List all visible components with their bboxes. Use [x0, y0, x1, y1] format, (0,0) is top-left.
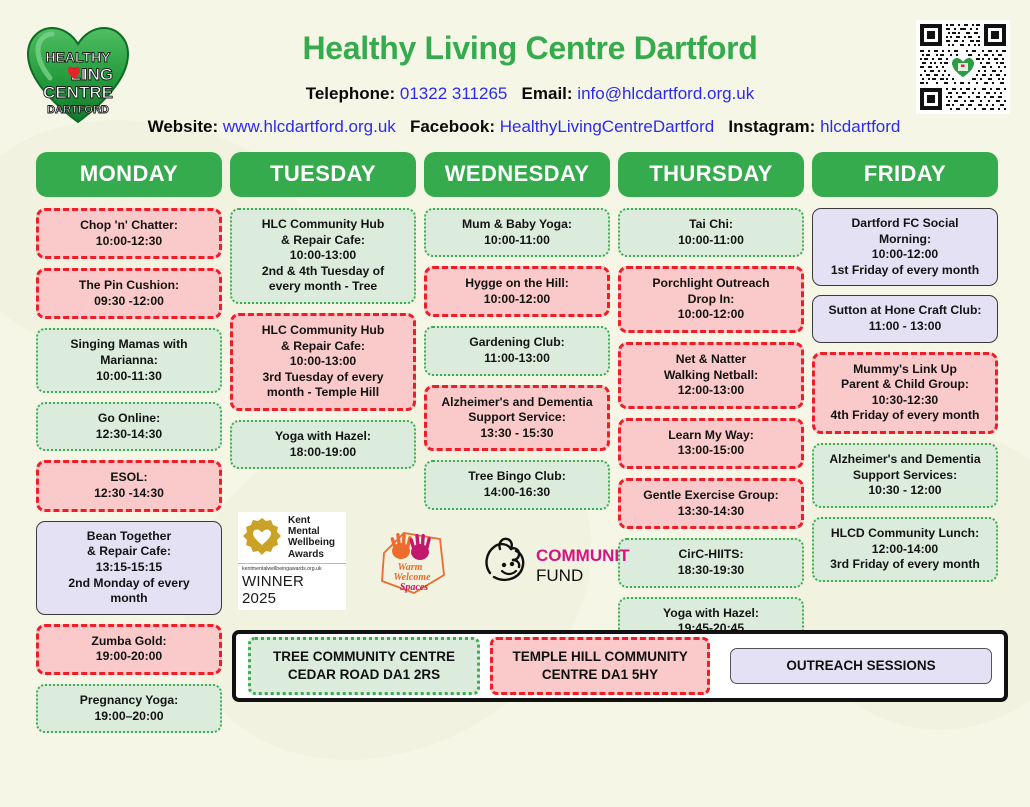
kent-awards-url: kentmentalwellbeingawards.org.uk: [238, 563, 346, 573]
session-line: Parent & Child Group:: [821, 377, 989, 393]
session-card[interactable]: Tai Chi: 10:00-11:00: [618, 208, 804, 257]
session-line: 12:00-14:00: [820, 542, 990, 558]
session-card[interactable]: Mum & Baby Yoga: 10:00-11:00: [424, 208, 610, 257]
qr-code-icon[interactable]: [916, 20, 1010, 114]
session-line: Hygge on the Hill:: [433, 276, 601, 292]
session-line: 1st Friday of every month: [819, 263, 991, 279]
session-card[interactable]: CirC-HIITS: 18:30-19:30: [618, 538, 804, 587]
session-line: 10:00-11:00: [432, 233, 602, 249]
day-header-tuesday: TUESDAY: [230, 152, 416, 197]
session-line: 3rd Friday of every month: [820, 557, 990, 573]
national-lottery-community-fund-logo: COMMUNITY FUND: [480, 533, 630, 589]
session-card[interactable]: Zumba Gold: 19:00-20:00: [36, 624, 222, 675]
legend-line: TREE COMMUNITY CENTRE: [273, 649, 455, 664]
session-line: 09:30 -12:00: [45, 294, 213, 310]
session-card[interactable]: Chop 'n' Chatter: 10:00-12:30: [36, 208, 222, 259]
session-line: Chop 'n' Chatter:: [45, 218, 213, 234]
session-card[interactable]: Sutton at Hone Craft Club: 11:00 - 13:00: [812, 295, 998, 342]
session-card[interactable]: HLCD Community Lunch: 12:00-14:00 3rd Fr…: [812, 517, 998, 582]
session-line: Tai Chi:: [626, 217, 796, 233]
svg-text:DARTFORD: DARTFORD: [47, 104, 109, 116]
contact-phone-email: Telephone: 01322 311265 Email: info@hlcd…: [0, 84, 1030, 104]
legend-line: CEDAR ROAD DA1 2RS: [288, 667, 440, 682]
email-value[interactable]: info@hlcdartford.org.uk: [577, 84, 754, 103]
session-card[interactable]: Singing Mamas with Marianna: 10:00-11:30: [36, 328, 222, 393]
telephone-label: Telephone:: [306, 84, 395, 103]
instagram-label: Instagram:: [728, 117, 815, 136]
session-line: Yoga with Hazel:: [626, 606, 796, 622]
session-card[interactable]: Pregnancy Yoga: 19:00–20:00: [36, 684, 222, 733]
session-card[interactable]: Alzheimer's and Dementia Support Service…: [424, 385, 610, 452]
venue-legend: TREE COMMUNITY CENTRE CEDAR ROAD DA1 2RS…: [232, 630, 1008, 702]
session-card[interactable]: Gentle Exercise Group: 13:30-14:30: [618, 478, 804, 529]
session-card[interactable]: Alzheimer's and Dementia Support Service…: [812, 443, 998, 508]
session-line: 4th Friday of every month: [821, 408, 989, 424]
day-header-monday: MONDAY: [36, 152, 222, 197]
session-line: Pregnancy Yoga:: [44, 693, 214, 709]
telephone-value: 01322 311265: [400, 84, 507, 103]
session-line: 10:00-12:00: [819, 247, 991, 263]
kent-awards-words: Kent Mental Wellbeing Awards: [288, 515, 335, 560]
session-card[interactable]: Go Online: 12:30-14:30: [36, 402, 222, 451]
session-line: 10:00-12:00: [433, 292, 601, 308]
session-line: The Pin Cushion:: [45, 278, 213, 294]
session-line: 13:15-15:15: [43, 560, 215, 576]
kent-word-line: Kent: [288, 515, 335, 526]
contact-web-social: Website: www.hlcdartford.org.uk Facebook…: [0, 117, 1030, 137]
session-line: HLC Community Hub: [239, 323, 407, 339]
session-line: Support Service:: [433, 410, 601, 426]
session-card[interactable]: Learn My Way: 13:00-15:00: [618, 418, 804, 469]
session-line: & Repair Cafe:: [43, 544, 215, 560]
warm-line-3: Spaces: [400, 582, 428, 593]
session-line: 10:30-12:30: [821, 393, 989, 409]
day-header-wednesday: WEDNESDAY: [424, 152, 610, 197]
session-line: ESOL:: [45, 470, 213, 486]
session-line: HLC Community Hub: [238, 217, 408, 233]
session-line: 13:30 - 15:30: [433, 426, 601, 442]
session-card[interactable]: HLC Community Hub & Repair Cafe: 10:00-1…: [230, 313, 416, 411]
legend-item-outreach-sessions: OUTREACH SESSIONS: [730, 648, 992, 684]
heart-badge-icon: [242, 517, 282, 557]
instagram-value[interactable]: hlcdartford: [820, 117, 900, 136]
session-line: HLCD Community Lunch:: [820, 526, 990, 542]
session-line: month - Temple Hill: [239, 385, 407, 401]
session-line: Gardening Club:: [432, 335, 602, 351]
community-fund-line-2: FUND: [536, 566, 583, 585]
session-line: 10:00-13:00: [239, 354, 407, 370]
timetable-poster: HEALTHY LI ING CENTRE DARTFORD Healthy L…: [0, 0, 1030, 728]
session-line: Yoga with Hazel:: [238, 429, 408, 445]
sponsor-logos: Kent Mental Wellbeing Awards kentmentalw…: [238, 512, 630, 610]
email-label: Email:: [522, 84, 573, 103]
session-line: 2nd & 4th Tuesday of: [238, 264, 408, 280]
page-title: Healthy Living Centre Dartford: [0, 30, 1030, 67]
session-line: 19:00-20:00: [45, 649, 213, 665]
session-line: Mum & Baby Yoga:: [432, 217, 602, 233]
day-header-friday: FRIDAY: [812, 152, 998, 197]
session-card[interactable]: Tree Bingo Club: 14:00-16:30: [424, 460, 610, 509]
session-line: 18:00-19:00: [238, 445, 408, 461]
session-line: Go Online:: [44, 411, 214, 427]
session-line: Morning:: [819, 232, 991, 248]
session-line: CirC-HIITS:: [626, 547, 796, 563]
session-line: Dartford FC Social: [819, 216, 991, 232]
session-line: Marianna:: [44, 353, 214, 369]
session-line: & Repair Cafe:: [239, 339, 407, 355]
kent-word-line: Wellbeing: [288, 537, 335, 548]
session-line: Singing Mamas with: [44, 337, 214, 353]
session-line: 18:30-19:30: [626, 563, 796, 579]
session-card[interactable]: The Pin Cushion: 09:30 -12:00: [36, 268, 222, 319]
session-line: 3rd Tuesday of every: [239, 370, 407, 386]
session-line: month: [43, 591, 215, 607]
session-line: 10:00-12:30: [45, 234, 213, 250]
website-label: Website:: [148, 117, 219, 136]
session-line: 10:00-11:30: [44, 369, 214, 385]
session-card[interactable]: HLC Community Hub & Repair Cafe: 10:00-1…: [230, 208, 416, 304]
session-line: 13:30-14:30: [627, 504, 795, 520]
facebook-label: Facebook:: [410, 117, 495, 136]
session-line: 10:00-11:00: [626, 233, 796, 249]
session-line: 10:00-13:00: [238, 248, 408, 264]
legend-item-tree-community-centre: TREE COMMUNITY CENTRE CEDAR ROAD DA1 2RS: [248, 637, 480, 694]
session-line: Tree Bingo Club:: [432, 469, 602, 485]
legend-line: TEMPLE HILL COMMUNITY: [513, 649, 688, 664]
community-fund-line-1: COMMUNITY: [536, 546, 630, 565]
session-card[interactable]: ESOL: 12:30 -14:30: [36, 460, 222, 511]
kent-awards-winner-year: WINNER 2025: [238, 573, 346, 610]
session-line: 11:00 - 13:00: [819, 319, 991, 335]
day-column-monday: MONDAY Chop 'n' Chatter: 10:00-12:30 The…: [36, 152, 222, 742]
session-card[interactable]: Mummy's Link Up Parent & Child Group: 10…: [812, 352, 998, 434]
session-line: Bean Together: [43, 529, 215, 545]
session-line: Alzheimer's and Dementia: [433, 395, 601, 411]
session-line: 10:00-12:00: [627, 307, 795, 323]
session-line: Learn My Way:: [627, 428, 795, 444]
session-line: 12:00-13:00: [627, 383, 795, 399]
day-header-thursday: THURSDAY: [618, 152, 804, 197]
warm-welcome-spaces-logo: Warm Welcome Spaces: [374, 525, 452, 597]
session-line: 12:30-14:30: [44, 427, 214, 443]
session-line: Net & Natter: [627, 352, 795, 368]
legend-line: OUTREACH SESSIONS: [786, 658, 935, 673]
session-line: Alzheimer's and Dementia: [820, 452, 990, 468]
website-value[interactable]: www.hlcdartford.org.uk: [223, 117, 396, 136]
session-card[interactable]: Dartford FC Social Morning: 10:00-12:00 …: [812, 208, 998, 286]
session-line: Drop In:: [627, 292, 795, 308]
legend-line: CENTRE DA1 5HY: [542, 667, 658, 682]
session-line: Sutton at Hone Craft Club:: [819, 303, 991, 319]
session-card[interactable]: Bean Together & Repair Cafe: 13:15-15:15…: [36, 521, 222, 615]
session-line: 12:30 -14:30: [45, 486, 213, 502]
svg-text:ING: ING: [83, 65, 113, 84]
session-card[interactable]: Yoga with Hazel: 18:00-19:00: [230, 420, 416, 469]
session-line: 10:30 - 12:00: [820, 483, 990, 499]
legend-item-temple-hill-community-centre: TEMPLE HILL COMMUNITY CENTRE DA1 5HY: [490, 637, 710, 694]
session-card[interactable]: Gardening Club: 11:00-13:00: [424, 326, 610, 375]
kent-word-line: Mental: [288, 526, 335, 537]
session-line: Mummy's Link Up: [821, 362, 989, 378]
session-line: 11:00-13:00: [432, 351, 602, 367]
session-line: 19:00–20:00: [44, 709, 214, 725]
session-line: Support Services:: [820, 468, 990, 484]
session-line: Walking Netball:: [627, 368, 795, 384]
poster-header: HEALTHY LI ING CENTRE DARTFORD Healthy L…: [0, 0, 1030, 148]
facebook-value[interactable]: HealthyLivingCentreDartford: [500, 117, 715, 136]
session-line: 13:00-15:00: [627, 443, 795, 459]
kent-word-line: Awards: [288, 549, 335, 560]
session-card[interactable]: Hygge on the Hill: 10:00-12:00: [424, 266, 610, 317]
session-line: every month - Tree: [238, 279, 408, 295]
session-line: 14:00-16:30: [432, 485, 602, 501]
session-line: 2nd Monday of every: [43, 576, 215, 592]
session-card[interactable]: Porchlight Outreach Drop In: 10:00-12:00: [618, 266, 804, 333]
session-line: & Repair Cafe:: [238, 233, 408, 249]
session-line: Gentle Exercise Group:: [627, 488, 795, 504]
kent-mental-wellbeing-awards-logo: Kent Mental Wellbeing Awards kentmentalw…: [238, 512, 346, 610]
session-card[interactable]: Net & Natter Walking Netball: 12:00-13:0…: [618, 342, 804, 409]
session-line: Porchlight Outreach: [627, 276, 795, 292]
session-line: Zumba Gold:: [45, 634, 213, 650]
